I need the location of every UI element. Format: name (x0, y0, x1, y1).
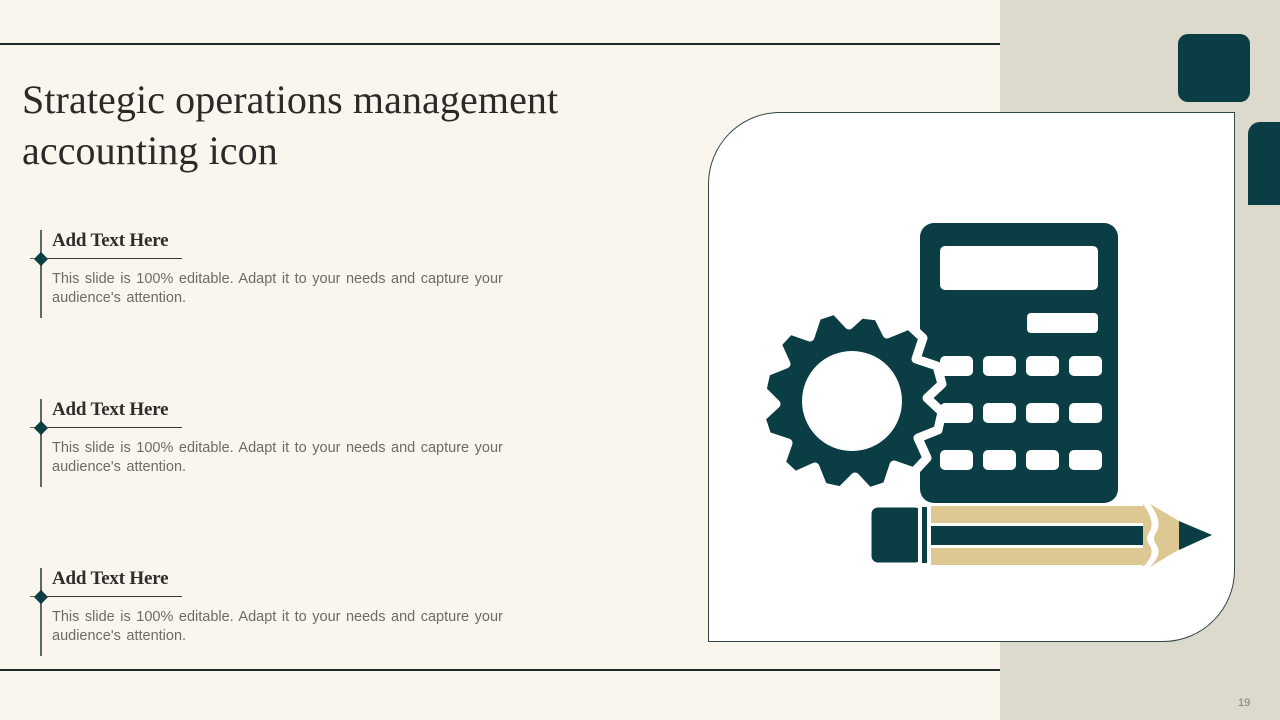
slide-canvas: Strategic operations management accounti… (0, 0, 1280, 720)
content-block-heading: Add Text Here (52, 568, 168, 590)
divider-top (0, 43, 1000, 45)
heading-underline (42, 427, 182, 428)
block-rail (40, 230, 42, 318)
heading-underline (42, 258, 182, 259)
calculator-icon (920, 223, 1118, 503)
deco-square-top-right (1178, 34, 1250, 102)
content-block-heading: Add Text Here (52, 230, 168, 252)
content-block-body: This slide is 100% editable. Adapt it to… (52, 608, 504, 646)
pencil-eraser (869, 505, 924, 565)
heading-underline (42, 596, 182, 597)
calculator-secondary-bar (1027, 313, 1098, 333)
block-rail (40, 568, 42, 656)
content-block-body: This slide is 100% editable. Adapt it to… (52, 439, 504, 477)
deco-tab-right-edge (1248, 122, 1280, 205)
accounting-calculator-gear-pencil-icon (709, 113, 1235, 642)
divider-bottom (0, 669, 1000, 671)
gear-icon (761, 310, 942, 492)
content-block-heading: Add Text Here (52, 399, 168, 421)
pencil-graphite-tip (1179, 521, 1212, 550)
content-block-body: This slide is 100% editable. Adapt it to… (52, 270, 504, 308)
page-number: 19 (1238, 697, 1250, 709)
pencil-body-middle (931, 526, 1143, 545)
pencil-body-top (931, 506, 1143, 523)
gear-center-hole (802, 351, 902, 451)
pencil-body-bottom (931, 548, 1143, 565)
calculator-display (940, 246, 1098, 290)
pencil-icon (869, 504, 1212, 567)
pencil-ferrule (920, 505, 929, 565)
block-rail (40, 399, 42, 487)
page-title: Strategic operations management accounti… (22, 74, 682, 176)
illustration-card (708, 112, 1235, 642)
